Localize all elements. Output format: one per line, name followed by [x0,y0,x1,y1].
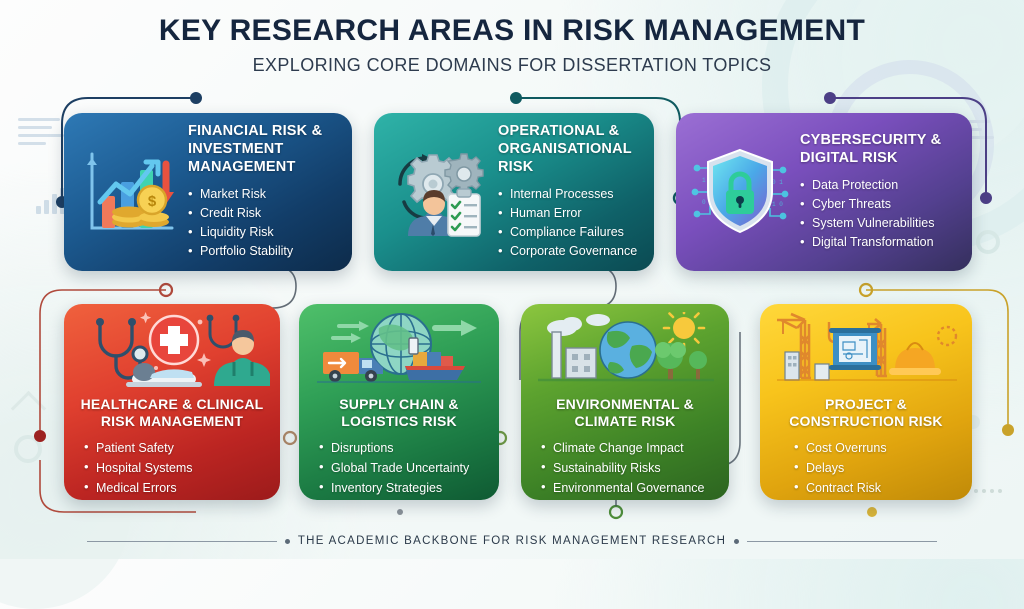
footer-line-right [747,541,937,542]
decor-bar-chart-icon [36,188,65,214]
connector-node-card6-bottom [610,506,622,518]
card-title: FINANCIAL RISK & INVESTMENT MANAGEMENT [188,123,340,176]
card-bullet-list: Data Protection Cyber Threats System Vul… [800,176,960,252]
card-bullet-list: Cost Overruns Delays Contract Risk Proje… [770,438,962,500]
list-item: Environmental Governance [541,478,719,498]
list-item: Corporate Governance [498,242,642,261]
card-title: OPERATIONAL & ORGANISATIONAL RISK [498,123,642,176]
connector-node-card7 [860,284,872,296]
crane-blueprint-helmet-icon [770,312,962,392]
decor-circle-tiny-right [976,230,1000,254]
card-bullet-list: Patient Safety Hospital Systems Medical … [74,438,270,500]
connector-node-card5-right [284,432,296,444]
connector-node-card1 [190,92,202,104]
connector-node-card2 [510,92,522,104]
decor-text-lines-left [18,118,64,150]
connector-node-card7-right [1002,424,1014,436]
card-title: HEALTHCARE & CLINICAL RISK MANAGEMENT [74,396,270,430]
growth-chart-coins-icon: $ [72,133,184,251]
card-text-block: FINANCIAL RISK & INVESTMENT MANAGEMENT M… [184,123,340,260]
card-operational-risk[interactable]: OPERATIONAL & ORGANISATIONAL RISK Intern… [374,113,654,271]
footer-line-left [87,541,277,542]
list-item: Market Risk [188,185,340,204]
card-financial-risk[interactable]: $ FINANCIAL RISK & INVESTMENT MANAGEMENT… [64,113,352,271]
list-item: Disruptions [319,438,489,458]
list-item: Cost Overruns [794,438,962,458]
globe-truck-ship-icon [309,312,489,392]
connector-node-card4 [160,284,172,296]
list-item: Patient Safety [84,438,270,458]
card-cybersecurity-risk[interactable]: 1 00 1 0 11 0 [676,113,972,271]
connector-node-card3 [824,92,836,104]
card-project-risk[interactable]: PROJECT & CONSTRUCTION RISK Cost Overrun… [760,304,972,500]
list-item: Delays [794,458,962,478]
card-title: ENVIRONMENTAL & CLIMATE RISK [531,396,719,430]
list-item: Sustainability Risks [541,458,719,478]
footer: THE ACADEMIC BACKBONE FOR RISK MANAGEMEN… [0,535,1024,547]
svg-text:$: $ [148,193,157,210]
connector-node-card7-bottom [867,507,877,517]
decor-circle-tiny-left [14,435,42,463]
page-title: KEY RESEARCH AREAS IN RISK MANAGEMENT [0,14,1024,47]
card-title: SUPPLY CHAIN & LOGISTICS RISK [309,396,489,430]
shield-lock-circuit-icon: 1 00 1 0 11 0 [684,133,796,251]
connector-node-card4-left [34,430,46,442]
svg-text:1 0: 1 0 [772,201,783,208]
list-item: Data Protection [800,176,960,195]
list-item: Compliance Failures [498,223,642,242]
list-item: System Vulnerabilities [800,214,960,233]
page-subtitle: EXPLORING CORE DOMAINS FOR DISSERTATION … [0,55,1024,76]
card-title: CYBERSECURITY & DIGITAL RISK [800,132,960,167]
footer-dot-right [734,539,739,544]
list-item: Human Error [498,204,642,223]
list-item: Hospital Systems [84,458,270,478]
list-item: Credit Risk [188,204,340,223]
card-healthcare-risk[interactable]: HEALTHCARE & CLINICAL RISK MANAGEMENT Pa… [64,304,280,500]
connector-node-card3-right [980,192,992,204]
list-item: Portfolio Stability [188,242,340,261]
card-bullet-list: Market Risk Credit Risk Liquidity Risk P… [188,185,340,261]
card-title: PROJECT & CONSTRUCTION RISK [770,396,962,430]
footer-text: THE ACADEMIC BACKBONE FOR RISK MANAGEMEN… [298,535,726,547]
list-item: Digital Transformation [800,233,960,252]
infographic-canvas: KEY RESEARCH AREAS IN RISK MANAGEMENT EX… [0,0,1024,559]
stethoscope-medical-cross-icon [74,312,270,392]
decor-chevron-icon [11,391,46,426]
decor-dots-row [974,489,1002,493]
list-item: Liquidity Risk [188,223,340,242]
gears-checklist-person-icon [382,133,494,251]
list-item: Medical Errors [84,478,270,498]
list-item: Climate Change Impact [541,438,719,458]
list-item: Contract Risk [794,478,962,498]
card-bullet-list: Disruptions Global Trade Uncertainty Inv… [309,438,489,498]
card-bullet-list: Climate Change Impact Sustainability Ris… [531,438,719,498]
list-item: Internal Processes [498,185,642,204]
svg-text:0 1: 0 1 [772,179,783,186]
card-text-block: CYBERSECURITY & DIGITAL RISK Data Protec… [796,132,960,251]
list-item: Project Uncertainty [794,498,962,500]
header: KEY RESEARCH AREAS IN RISK MANAGEMENT EX… [0,14,1024,76]
list-item: Inventory Strategies [319,478,489,498]
footer-dot-left [285,539,290,544]
list-item: Health Policy [84,498,270,500]
card-environmental-risk[interactable]: ENVIRONMENTAL & CLIMATE RISK Climate Cha… [521,304,729,500]
earth-factory-tree-sun-icon [531,312,719,392]
connector-dot-bottom-mid [397,509,403,515]
list-item: Cyber Threats [800,195,960,214]
card-text-block: OPERATIONAL & ORGANISATIONAL RISK Intern… [494,123,642,260]
list-item: Global Trade Uncertainty [319,458,489,478]
card-bullet-list: Internal Processes Human Error Complianc… [498,185,642,261]
card-supply-chain-risk[interactable]: SUPPLY CHAIN & LOGISTICS RISK Disruption… [299,304,499,500]
